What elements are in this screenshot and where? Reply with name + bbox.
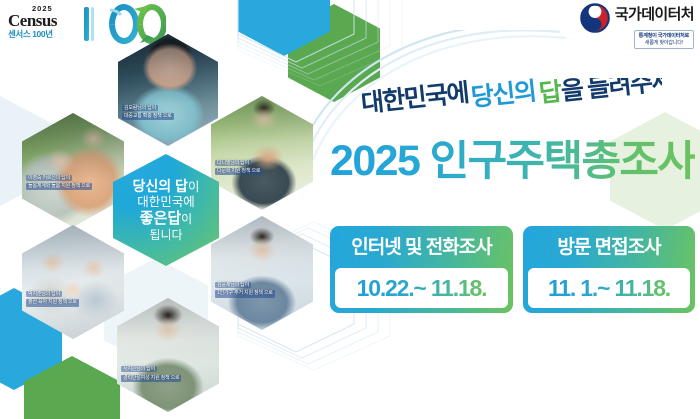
center-line-4: 됩니다 [149, 228, 182, 242]
info-box-visit-dates-wrap: 11. 1.~ 11.18. [528, 268, 690, 308]
taegeuk-icon [580, 3, 610, 33]
center-message-hex: 당신의 답이 대한민국에 좋은답이 됩니다 [113, 154, 219, 266]
center-line-1: 당신의 답이 [133, 178, 200, 195]
caption-line1: 박지훈님의 답이 [26, 291, 120, 298]
photo-father-and-child [211, 96, 313, 210]
census-100-logo: 2025 Census 센서스 100년 [6, 2, 166, 44]
svg-text:을 들려주세요: 을 들려주세요 [560, 78, 662, 106]
caption-line2: 1인가구 주거 지원 정책 으로 [215, 290, 275, 297]
photo-bus-driver [118, 34, 218, 146]
info-box-internet-dates: 10.22.~ 11.18. [357, 275, 487, 302]
gov-sub-line2: 새롭게 찾아갑니다! [639, 40, 689, 47]
caption-line2: 돌봄체계와 돌봄 지원 정책 으로 [26, 183, 92, 190]
info-box-internet: 인터넷 및 전화조사 10.22.~ 11.18. [330, 226, 513, 313]
caption-line1: 김윤재님의 답이 [215, 282, 309, 289]
center-line1-strong: 당신의 답 [133, 178, 188, 194]
info-box-internet-label: 인터넷 및 전화조사 [333, 229, 510, 267]
center-line1-tail: 이 [188, 180, 200, 194]
caption-line1: 이영숙 어르신의 답이 [26, 175, 120, 182]
gov-sub-line1: 통계청이 국가데이터처로 [639, 33, 689, 40]
center-line3-tail: 이 [181, 212, 192, 226]
svg-text:Census: Census [8, 11, 58, 30]
caption-line2: 출산 육아 지원 정책 으로 [26, 299, 79, 306]
photo-young-man [211, 216, 313, 330]
info-box-visit-label: 방문 면접조사 [526, 229, 692, 267]
info-box-internet-dates-wrap: 10.22.~ 11.18. [335, 268, 508, 308]
gov-logo-name: 국가데이터처 [615, 7, 694, 22]
photo-hex-bus-driver: 김보람님의 답이 대중교통 확충 정책 으로 [118, 34, 218, 146]
svg-text:대한민국에: 대한민국에 [362, 79, 470, 118]
caption-single-household: 김윤재님의 답이 1인가구 주거 지원 정책 으로 [215, 282, 309, 298]
center-message-text: 당신의 답이 대한민국에 좋은답이 됩니다 [113, 154, 219, 266]
caption-bus-driver: 김보람님의 답이 대중교통 확충 정책 으로 [122, 105, 214, 121]
page-title: 2025 인구주택총조사 [330, 140, 695, 183]
gov-logo-subtext: 통계청이 국가데이터처로 새롭게 찾아갑니다! [634, 30, 694, 49]
photo-hex-multicultural-family: 다니엘님의 답이 다문화 지원 정책 으로 [211, 96, 313, 210]
center-line-2: 대한민국에 [137, 195, 195, 210]
caption-line2: 대중교통 확충 정책 으로 [122, 113, 174, 120]
center-line-3: 좋은답이 [140, 210, 192, 228]
caption-elder-care: 이영숙 어르신의 답이 돌봄체계와 돌봄 지원 정책 으로 [26, 175, 120, 191]
caption-line1: 서지은님의 답이 [121, 366, 215, 373]
caption-career-woman: 서지은님의 답이 경력단절여성 지원 정책 으로 [121, 366, 215, 382]
caption-line2: 다문화 지원 정책 으로 [215, 168, 262, 175]
caption-young-family: 박지훈님의 답이 출산 육아 지원 정책 으로 [26, 291, 120, 307]
photo-hex-single-household: 김윤재님의 답이 1인가구 주거 지원 정책 으로 [211, 216, 313, 330]
center-line3-strong: 좋은답 [140, 210, 181, 227]
caption-line1: 김보람님의 답이 [122, 105, 214, 112]
info-box-visit-dates: 11. 1.~ 11.18. [548, 275, 670, 302]
tagline: 대한민국에 당신의 답 을 들려주세요 [362, 78, 662, 130]
caption-line1: 다니엘님의 답이 [215, 160, 309, 167]
info-box-visit: 방문 면접조사 11. 1.~ 11.18. [523, 226, 695, 313]
svg-text:당신의: 당신의 [470, 78, 537, 112]
caption-line2: 경력단절여성 지원 정책 으로 [121, 375, 181, 382]
caption-multicultural: 다니엘님의 답이 다문화 지원 정책 으로 [215, 160, 309, 176]
census-promo-banner: 2025 Census 센서스 100년 국가데이터처 통계청이 국가데이터처로 [0, 0, 700, 419]
svg-text:센서스 100년: 센서스 100년 [8, 29, 53, 39]
